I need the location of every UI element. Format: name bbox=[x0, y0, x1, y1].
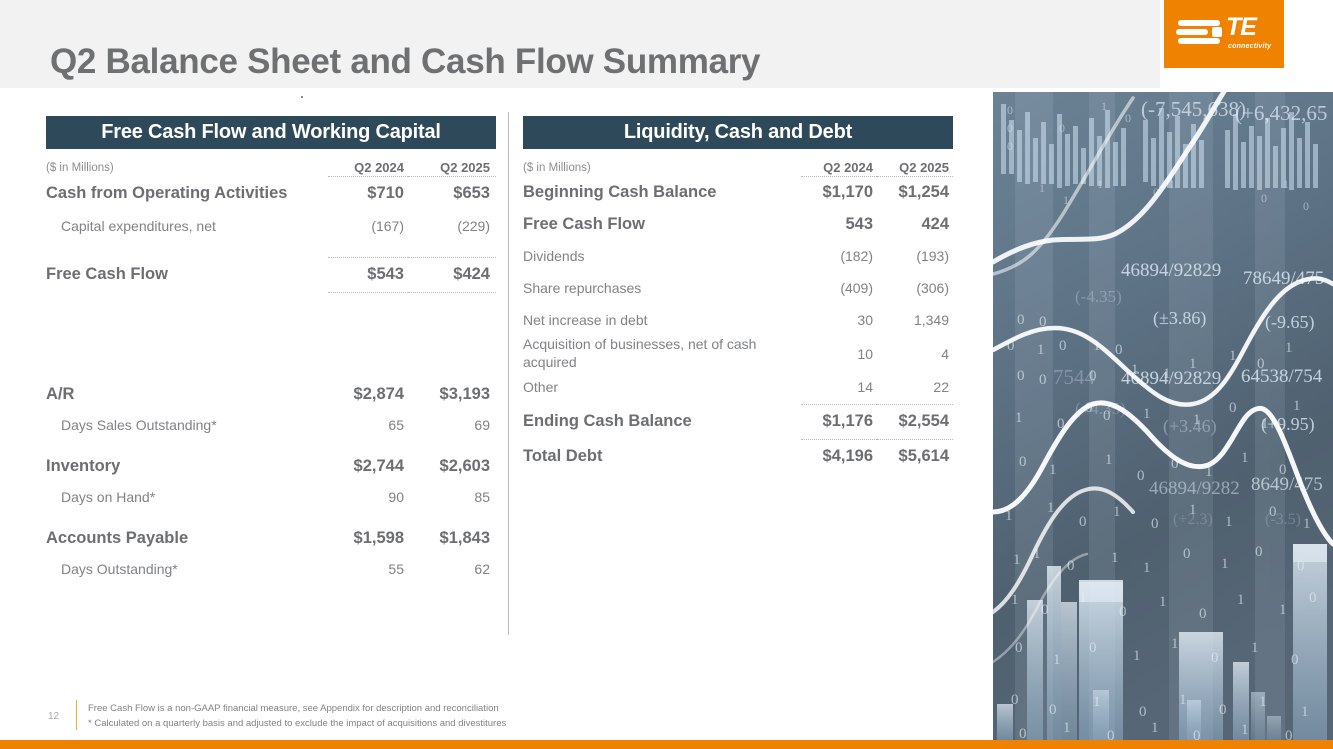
svg-text:1: 1 bbox=[1143, 406, 1151, 422]
svg-text:1: 1 bbox=[1301, 704, 1309, 720]
right-col-head-q2-2025: Q2 2025 bbox=[877, 160, 953, 175]
row-label: Share repurchases bbox=[523, 272, 801, 304]
svg-text:(+3.46): (+3.46) bbox=[1163, 416, 1217, 437]
row-value-q2-2024: (409) bbox=[801, 272, 877, 304]
table-row: Share repurchases (409) (306) bbox=[523, 272, 953, 304]
slide-root: Q2 Balance Sheet and Cash Flow Summary T… bbox=[0, 0, 1333, 749]
row-value-q2-2024: $1,176 bbox=[801, 404, 877, 438]
logo-subtext: connectivity bbox=[1228, 43, 1271, 50]
svg-text:46894/9282: 46894/9282 bbox=[1149, 478, 1240, 499]
footnotes: Free Cash Flow is a non-GAAP financial m… bbox=[88, 702, 558, 731]
page-title: Q2 Balance Sheet and Cash Flow Summary bbox=[50, 42, 760, 82]
svg-text:1: 1 bbox=[1047, 500, 1055, 516]
table-row: Days on Hand* 90 85 bbox=[46, 482, 496, 512]
svg-text:1: 1 bbox=[1113, 504, 1121, 520]
row-value-q2-2024: 30 bbox=[801, 304, 877, 336]
svg-text:0: 0 bbox=[1291, 652, 1299, 668]
svg-text:1: 1 bbox=[1225, 514, 1233, 530]
table-row: Other 14 22 bbox=[523, 371, 953, 403]
table-row: Cash from Operating Activities $710 $653 bbox=[46, 176, 496, 210]
row-value-q2-2025: 4 bbox=[877, 336, 953, 371]
left-panel-title: Free Cash Flow and Working Capital bbox=[101, 121, 441, 144]
svg-text:(-3.5): (-3.5) bbox=[1265, 511, 1301, 528]
svg-text:1: 1 bbox=[1101, 99, 1107, 113]
svg-text:0: 0 bbox=[1059, 338, 1067, 354]
row-label: Beginning Cash Balance bbox=[523, 176, 801, 208]
row-value-q2-2025: 85 bbox=[408, 482, 496, 512]
left-unit-note: ($ in Millions) bbox=[46, 160, 328, 175]
svg-text:1: 1 bbox=[1251, 640, 1259, 656]
svg-text:1: 1 bbox=[1079, 590, 1087, 606]
svg-text:0: 0 bbox=[1059, 121, 1065, 135]
row-label: Cash from Operating Activities bbox=[46, 176, 328, 210]
row-value-q2-2025: (193) bbox=[877, 240, 953, 272]
right-col-head-q2-2024: Q2 2024 bbox=[801, 160, 877, 175]
svg-text:0: 0 bbox=[1125, 111, 1131, 125]
spacer bbox=[46, 440, 496, 450]
spacer bbox=[46, 512, 496, 522]
svg-text:1: 1 bbox=[1279, 602, 1287, 618]
table-row: Free Cash Flow $543 $424 bbox=[46, 257, 496, 291]
svg-text:1: 1 bbox=[1283, 177, 1289, 191]
svg-text:0: 0 bbox=[1183, 546, 1191, 562]
table-row: Accounts Payable $1,598 $1,843 bbox=[46, 522, 496, 554]
svg-text:0: 0 bbox=[1079, 514, 1087, 530]
table-row: A/R $2,874 $3,193 bbox=[46, 378, 496, 410]
svg-text:0: 0 bbox=[1039, 372, 1047, 388]
row-value-q2-2025: $653 bbox=[408, 176, 496, 210]
svg-text:0: 0 bbox=[1019, 454, 1027, 470]
row-value-q2-2025: $1,254 bbox=[877, 176, 953, 208]
table-row: Inventory $2,744 $2,603 bbox=[46, 450, 496, 482]
svg-text:1: 1 bbox=[1053, 652, 1061, 668]
svg-text:0: 0 bbox=[1151, 516, 1159, 532]
decorative-financial-image: 000 010 111 010 10 000 101 000 011 110 1… bbox=[993, 92, 1333, 744]
row-value-q2-2024: (182) bbox=[801, 240, 877, 272]
row-value-q2-2025: $5,614 bbox=[877, 439, 953, 473]
row-label: Acquisition of businesses, net of cash a… bbox=[523, 336, 801, 371]
svg-text:(-7,545,638): (-7,545,638) bbox=[1141, 97, 1246, 121]
svg-text:1: 1 bbox=[1097, 177, 1103, 191]
row-value-q2-2025: 1,349 bbox=[877, 304, 953, 336]
row-value-q2-2025: $2,603 bbox=[408, 450, 496, 482]
svg-text:(-9.65): (-9.65) bbox=[1265, 312, 1314, 333]
footnote-divider bbox=[76, 700, 77, 730]
row-label: Days on Hand* bbox=[46, 482, 328, 512]
svg-text:0: 0 bbox=[1139, 704, 1147, 720]
row-value-q2-2024: 10 bbox=[801, 336, 877, 371]
row-label: Capital expenditures, net bbox=[46, 210, 328, 242]
svg-text:1: 1 bbox=[1259, 694, 1267, 710]
table-header-row: ($ in Millions) Q2 2024 Q2 2025 bbox=[46, 160, 496, 175]
row-value-q2-2025: $2,554 bbox=[877, 404, 953, 438]
svg-text:1: 1 bbox=[1037, 342, 1045, 358]
spacer bbox=[46, 292, 496, 378]
svg-text:0: 0 bbox=[1007, 121, 1013, 135]
svg-text:1: 1 bbox=[1093, 694, 1101, 710]
svg-text:0: 0 bbox=[1017, 312, 1025, 328]
row-value-q2-2025: 62 bbox=[408, 554, 496, 584]
row-label: Free Cash Flow bbox=[46, 257, 328, 291]
svg-text:1: 1 bbox=[1151, 720, 1159, 736]
row-value-q2-2025: (306) bbox=[877, 272, 953, 304]
svg-text:1: 1 bbox=[1039, 181, 1045, 195]
row-label: Dividends bbox=[523, 240, 801, 272]
svg-text:0: 0 bbox=[1119, 604, 1127, 620]
svg-text:0: 0 bbox=[1017, 368, 1025, 384]
svg-text:0: 0 bbox=[1255, 544, 1263, 560]
row-label: A/R bbox=[46, 378, 328, 410]
row-value-q2-2025: $424 bbox=[408, 257, 496, 291]
svg-text:0: 0 bbox=[1199, 606, 1207, 622]
svg-text:0: 0 bbox=[1211, 650, 1219, 666]
svg-text:(+6,432,65: (+6,432,65 bbox=[1235, 101, 1327, 125]
row-value-q2-2024: $1,170 bbox=[801, 176, 877, 208]
row-label: Accounts Payable bbox=[46, 522, 328, 554]
svg-text:1: 1 bbox=[1221, 556, 1229, 572]
svg-text:0: 0 bbox=[1303, 199, 1309, 213]
svg-text:1: 1 bbox=[1015, 410, 1023, 426]
left-col-head-q2-2024: Q2 2024 bbox=[328, 160, 408, 175]
svg-text:0: 0 bbox=[1219, 702, 1227, 718]
svg-text:1: 1 bbox=[1105, 452, 1113, 468]
svg-text:1: 1 bbox=[1133, 648, 1141, 664]
table-row: Ending Cash Balance $1,176 $2,554 bbox=[523, 404, 953, 438]
svg-text:1: 1 bbox=[1293, 398, 1301, 414]
row-value-q2-2025: 424 bbox=[877, 208, 953, 240]
row-value-q2-2025: $3,193 bbox=[408, 378, 496, 410]
row-value-q2-2024: 90 bbox=[328, 482, 408, 512]
svg-text:1: 1 bbox=[1241, 450, 1249, 466]
svg-text:64538/754: 64538/754 bbox=[1241, 366, 1323, 387]
row-label: Free Cash Flow bbox=[523, 208, 801, 240]
row-label: Days Sales Outstanding* bbox=[46, 410, 328, 440]
spacer bbox=[46, 242, 496, 256]
svg-text:1: 1 bbox=[1013, 552, 1021, 568]
svg-text:8649/475: 8649/475 bbox=[1251, 474, 1323, 495]
row-value-q2-2024: 543 bbox=[801, 208, 877, 240]
svg-text:0: 0 bbox=[1297, 558, 1305, 574]
vertical-divider bbox=[508, 112, 509, 635]
row-value-q2-2024: $710 bbox=[328, 176, 408, 210]
svg-text:0: 0 bbox=[1309, 590, 1317, 606]
svg-text:1: 1 bbox=[1159, 594, 1167, 610]
table-header-row: ($ in Millions) Q2 2024 Q2 2025 bbox=[523, 160, 953, 175]
row-value-q2-2024: (167) bbox=[328, 210, 408, 242]
svg-text:0: 0 bbox=[1115, 342, 1123, 358]
row-value-q2-2024: $2,874 bbox=[328, 378, 408, 410]
row-value-q2-2024: 55 bbox=[328, 554, 408, 584]
free-cash-flow-table: ($ in Millions) Q2 2024 Q2 2025 Cash fro… bbox=[46, 160, 496, 584]
row-label: Inventory bbox=[46, 450, 328, 482]
footnote-1: Free Cash Flow is a non-GAAP financial m… bbox=[88, 702, 558, 717]
row-value-q2-2025: 69 bbox=[408, 410, 496, 440]
row-value-q2-2025: 22 bbox=[877, 371, 953, 403]
svg-text:1: 1 bbox=[1171, 636, 1179, 652]
svg-text:0: 0 bbox=[1011, 692, 1019, 708]
svg-text:0: 0 bbox=[1137, 468, 1145, 484]
left-panel-header: Free Cash Flow and Working Capital bbox=[46, 116, 496, 149]
logo-te-text: TE bbox=[1226, 15, 1256, 40]
row-label: Days Outstanding* bbox=[46, 554, 328, 584]
table-row: Capital expenditures, net (167) (229) bbox=[46, 210, 496, 242]
table-row: Free Cash Flow 543 424 bbox=[523, 208, 953, 240]
table-row: Days Sales Outstanding* 65 69 bbox=[46, 410, 496, 440]
table-row: Days Outstanding* 55 62 bbox=[46, 554, 496, 584]
svg-text:(±3.86): (±3.86) bbox=[1153, 308, 1206, 329]
row-value-q2-2024: $4,196 bbox=[801, 439, 877, 473]
table-row: Total Debt $4,196 $5,614 bbox=[523, 439, 953, 473]
svg-text:1: 1 bbox=[1237, 592, 1245, 608]
svg-text:1: 1 bbox=[1063, 720, 1071, 736]
svg-text:0: 0 bbox=[1007, 139, 1013, 153]
decorative-dot bbox=[301, 96, 303, 98]
row-value-q2-2024: 65 bbox=[328, 410, 408, 440]
svg-text:0: 0 bbox=[1041, 602, 1049, 618]
right-panel-title: Liquidity, Cash and Debt bbox=[624, 121, 852, 144]
svg-text:1: 1 bbox=[1111, 550, 1119, 566]
table-row: Beginning Cash Balance $1,170 $1,254 bbox=[523, 176, 953, 208]
svg-text:0: 0 bbox=[1229, 400, 1237, 416]
svg-text:1: 1 bbox=[1143, 560, 1151, 576]
row-label: Other bbox=[523, 371, 801, 403]
svg-text:46894/92829: 46894/92829 bbox=[1121, 260, 1221, 281]
right-unit-note: ($ in Millions) bbox=[523, 160, 801, 175]
svg-text:(-4.35): (-4.35) bbox=[1075, 287, 1122, 306]
svg-text:1: 1 bbox=[1241, 722, 1249, 738]
row-value-q2-2024: $1,598 bbox=[328, 522, 408, 554]
table-row: Acquisition of businesses, net of cash a… bbox=[523, 336, 953, 371]
right-panel-header: Liquidity, Cash and Debt bbox=[523, 116, 953, 149]
te-logo-mark-icon bbox=[1176, 18, 1228, 46]
page-number: 12 bbox=[48, 711, 59, 722]
svg-text:0: 0 bbox=[1015, 640, 1023, 656]
row-label: Ending Cash Balance bbox=[523, 404, 801, 438]
svg-text:0: 0 bbox=[1261, 191, 1267, 205]
te-connectivity-logo: TE connectivity bbox=[1164, 0, 1284, 68]
svg-text:1: 1 bbox=[1303, 516, 1311, 532]
row-value-q2-2024: $543 bbox=[328, 257, 408, 291]
svg-text:0: 0 bbox=[1089, 640, 1097, 656]
svg-text:0: 0 bbox=[1049, 702, 1057, 718]
svg-text:1: 1 bbox=[1285, 340, 1293, 356]
svg-text:0: 0 bbox=[1007, 103, 1013, 117]
footnote-2: * Calculated on a quarterly basis and ad… bbox=[88, 717, 558, 732]
row-label: Net increase in debt bbox=[523, 304, 801, 336]
row-value-q2-2025: $1,843 bbox=[408, 522, 496, 554]
row-value-q2-2024: 14 bbox=[801, 371, 877, 403]
svg-text:1: 1 bbox=[1049, 462, 1057, 478]
svg-text:7544: 7544 bbox=[1053, 365, 1096, 389]
row-value-q2-2024: $2,744 bbox=[328, 450, 408, 482]
svg-text:(+2.3): (+2.3) bbox=[1173, 511, 1213, 528]
row-value-q2-2025: (229) bbox=[408, 210, 496, 242]
table-row: Net increase in debt 30 1,349 bbox=[523, 304, 953, 336]
liquidity-cash-debt-table: ($ in Millions) Q2 2024 Q2 2025 Beginnin… bbox=[523, 160, 953, 473]
bottom-accent-bar bbox=[0, 740, 1333, 749]
row-label: Total Debt bbox=[523, 439, 801, 473]
svg-text:1: 1 bbox=[1179, 692, 1187, 708]
left-col-head-q2-2025: Q2 2025 bbox=[408, 160, 496, 175]
table-row: Dividends (182) (193) bbox=[523, 240, 953, 272]
